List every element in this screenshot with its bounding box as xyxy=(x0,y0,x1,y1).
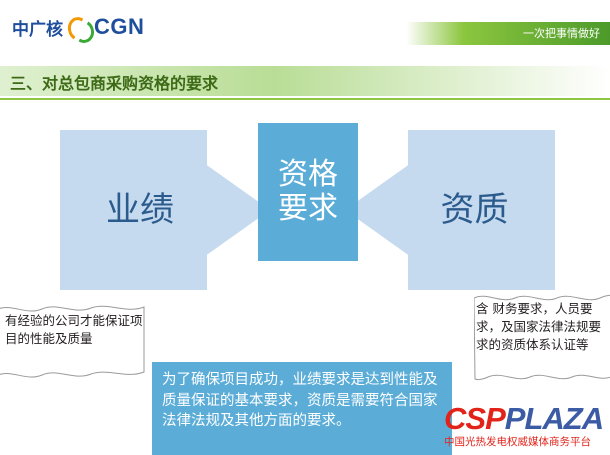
arrow-diagram: 业绩 资质 资格 要求 xyxy=(60,130,555,290)
csp-plaza-watermark: CSPPLAZA 中国光热发电权威媒体商务平台 xyxy=(444,401,604,449)
left-arrow-label: 业绩 xyxy=(70,182,210,231)
csp-letter-p: P xyxy=(485,401,505,436)
right-note-text: 含 财务要求，人员要求，及国家法律法规要求的资质体系认证等 xyxy=(476,300,604,354)
left-note-text: 有经验的公司才能保证项目的性能及质量 xyxy=(5,312,145,348)
center-box-line1: 资格 xyxy=(278,158,338,193)
right-arrow-label: 资质 xyxy=(402,182,547,231)
title-underline xyxy=(0,98,610,100)
cgn-logo: 中广核 CGN xyxy=(12,10,144,44)
slide: 中广核 CGN 一次把事情做好 三、对总包商采购资格的要求 业绩 资质 资格 要… xyxy=(0,0,610,455)
header-slogan: 一次把事情做好 xyxy=(523,25,600,41)
csp-plaza-word: PLAZA xyxy=(505,401,603,436)
csp-wordmark: CSPPLAZA xyxy=(444,401,603,437)
logo-chinese-text: 中广核 xyxy=(12,15,63,40)
slide-header: 中广核 CGN 一次把事情做好 xyxy=(0,0,610,55)
center-box: 资格 要求 xyxy=(258,123,358,261)
logo-english-text: CGN xyxy=(94,14,144,40)
summary-box: 为了确保项目成功，业绩要求是达到性能及质量保证的基本要求，资质是需要符合国家法律… xyxy=(152,362,452,455)
center-box-line2: 要求 xyxy=(278,192,338,227)
csp-subtitle: 中国光热发电权威媒体商务平台 xyxy=(444,434,591,449)
cgn-emblem-icon xyxy=(66,14,92,40)
page-title: 三、对总包商采购资格的要求 xyxy=(10,70,218,94)
summary-text: 为了确保项目成功，业绩要求是达到性能及质量保证的基本要求，资质是需要符合国家法律… xyxy=(162,370,442,432)
csp-letters-cs: CS xyxy=(444,401,485,436)
